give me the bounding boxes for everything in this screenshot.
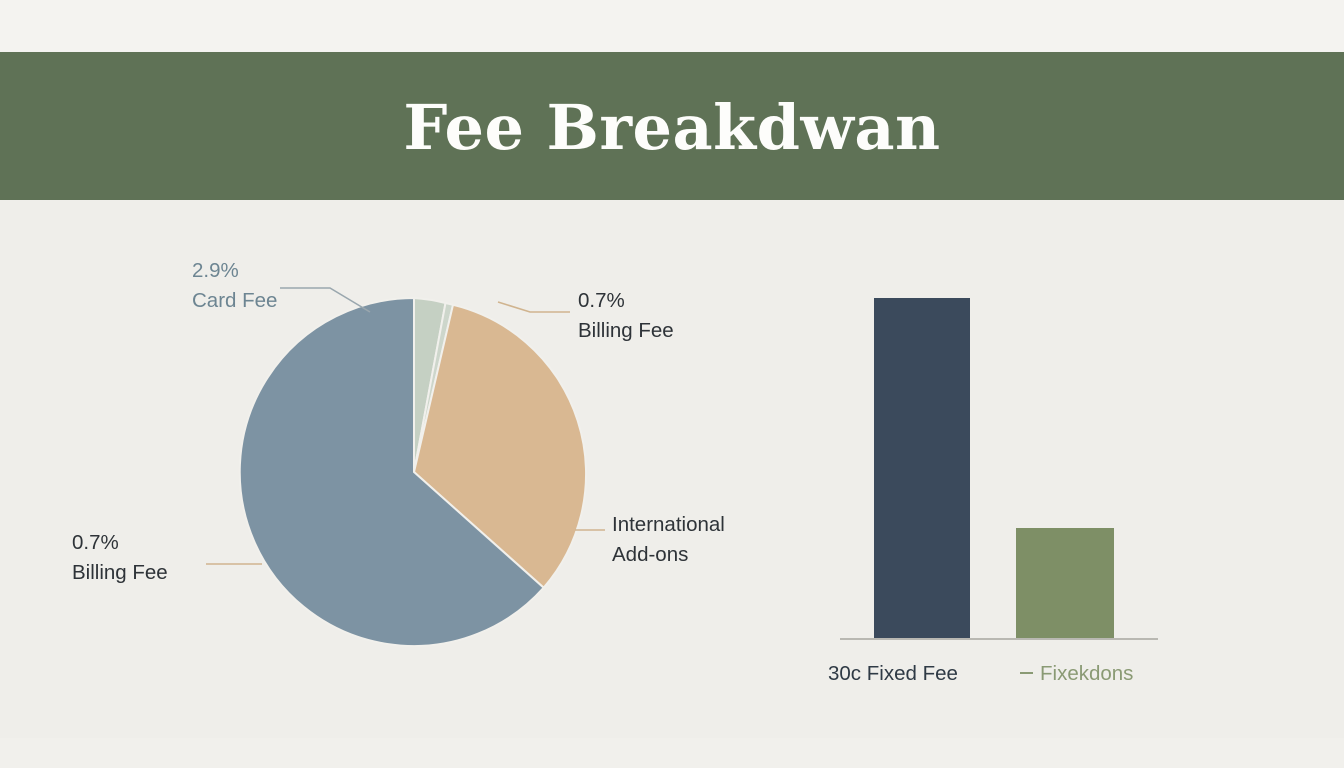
- bar-label-fixed-addons: Fixekdons: [1040, 662, 1133, 685]
- plot-area: 2.9% Card Fee 0.7% Billing Fee 0.7% Bill…: [0, 200, 1344, 738]
- bottom-margin: [0, 738, 1344, 768]
- pie-label-card-fee: 2.9% Card Fee: [192, 256, 277, 315]
- chart-canvas: Fee Breakdwan 2.9% Card Fee: [0, 0, 1344, 768]
- pie-label-international-addons: International Add-ons: [612, 510, 725, 569]
- bar-chart-baseline: [840, 638, 1158, 640]
- top-margin: [0, 0, 1344, 52]
- header-band: Fee Breakdwan: [0, 52, 1344, 200]
- bar-chart: 30c Fixed Fee Fixekdons: [820, 270, 1200, 650]
- bar-fixed-fee: [874, 298, 970, 638]
- legend-dash-icon: [1020, 672, 1033, 674]
- leader-line-billing-fee-top: [498, 302, 570, 312]
- pie-label-billing-fee-left: 0.7% Billing Fee: [72, 528, 168, 587]
- page-title: Fee Breakdwan: [403, 97, 940, 159]
- bar-legend-fixed-addons: Fixekdons: [1020, 662, 1133, 686]
- bar-label-fixed-fee: 30c Fixed Fee: [828, 662, 958, 686]
- leader-line-card-fee: [280, 288, 370, 312]
- bar-fixed-addons: [1016, 528, 1114, 638]
- pie-label-billing-fee-top: 0.7% Billing Fee: [578, 286, 674, 345]
